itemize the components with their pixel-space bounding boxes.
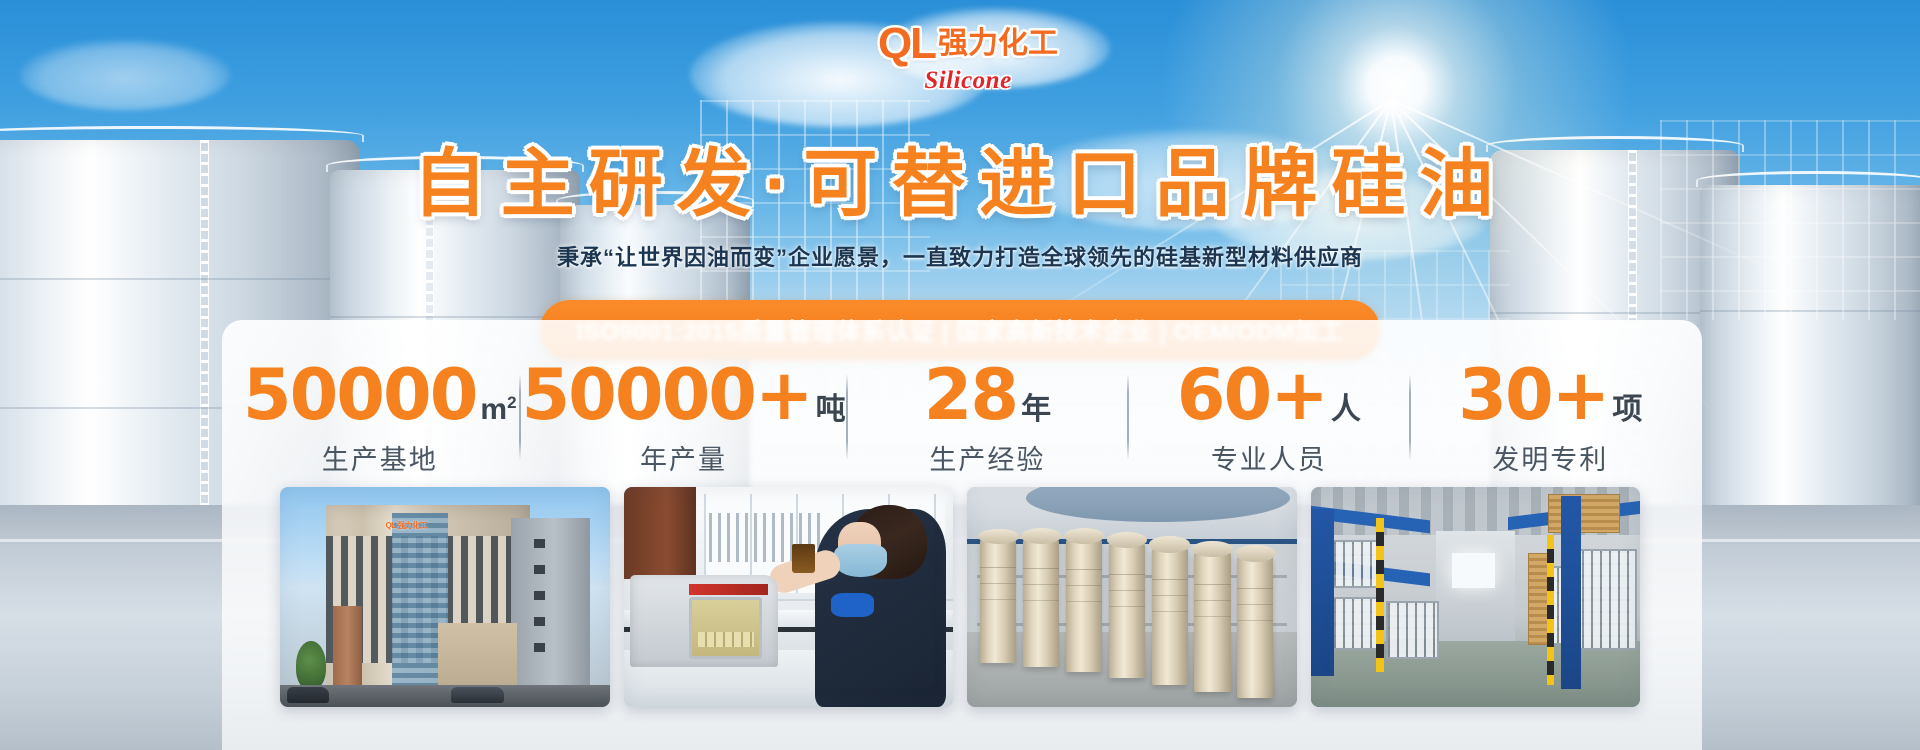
photo-image — [1311, 487, 1641, 707]
hero-headline: 自主研发·可替进口品牌硅油 — [0, 124, 1920, 231]
stat-item-annual-output: 50000+ 吨 年产量 — [521, 360, 845, 477]
photo-office-building[interactable]: QL 强力化工 — [280, 487, 610, 707]
stats-row: 50000 m2 生产基地 50000+ 吨 年产量 28 年 — [240, 360, 1690, 490]
company-logo[interactable]: QL 强力化工 Silicone — [873, 22, 1063, 104]
stat-label: 发明专利 — [1411, 438, 1690, 477]
stat-item-professionals: 60+ 人 专业人员 — [1129, 360, 1408, 477]
stat-label: 生产基地 — [240, 438, 519, 477]
stat-item-production-base: 50000 m2 生产基地 — [240, 360, 519, 477]
stat-number: 60+ — [1177, 360, 1327, 430]
photo-image: QL 强力化工 — [280, 487, 610, 707]
logo-name-en: Silicone — [873, 68, 1063, 93]
stat-number: 28 — [924, 360, 1017, 430]
photo-laboratory[interactable] — [624, 487, 954, 707]
stat-unit-text: 人 — [1331, 393, 1361, 426]
stat-item-patents: 30+ 项 发明专利 — [1411, 360, 1690, 477]
promo-banner: QL 强力化工 Silicone 自主研发·可替进口品牌硅油 秉承“让世界因油而… — [0, 0, 1920, 750]
stat-unit: 项 — [1612, 394, 1642, 425]
stat-unit-text: 吨 — [816, 393, 846, 426]
hero-subtitle: 秉承“让世界因油而变”企业愿景，一直致力打造全球领先的硅基新型材料供应商 — [0, 240, 1920, 272]
logo-mark-ql: QL — [878, 22, 935, 66]
stat-unit: m2 — [480, 394, 516, 425]
stat-unit-text: 年 — [1021, 393, 1051, 426]
photo-warehouse[interactable] — [1311, 487, 1641, 707]
stat-unit-text: m — [480, 393, 507, 426]
photo-image — [624, 487, 954, 707]
building-logo-icon: QL 强力化工 — [385, 520, 427, 531]
stat-unit-sup: 2 — [507, 393, 516, 412]
stat-unit: 年 — [1021, 394, 1051, 425]
stat-number: 50000+ — [521, 360, 811, 430]
logo-wordmark: QL 强力化工 — [873, 22, 1063, 66]
stat-label: 年产量 — [521, 438, 845, 477]
stat-label: 专业人员 — [1129, 438, 1408, 477]
cloud-decoration — [20, 40, 230, 110]
stat-unit: 人 — [1331, 394, 1361, 425]
stat-item-experience: 28 年 生产经验 — [848, 360, 1127, 477]
stat-unit-text: 项 — [1612, 393, 1642, 426]
stat-label: 生产经验 — [848, 438, 1127, 477]
stat-unit: 吨 — [816, 394, 846, 425]
photo-production-tanks[interactable] — [967, 487, 1297, 707]
logo-name-cn: 强力化工 — [938, 29, 1058, 59]
stat-number: 30+ — [1458, 360, 1608, 430]
photo-strip: QL 强力化工 — [280, 487, 1640, 707]
stat-number: 50000 — [243, 360, 477, 430]
photo-image — [967, 487, 1297, 707]
